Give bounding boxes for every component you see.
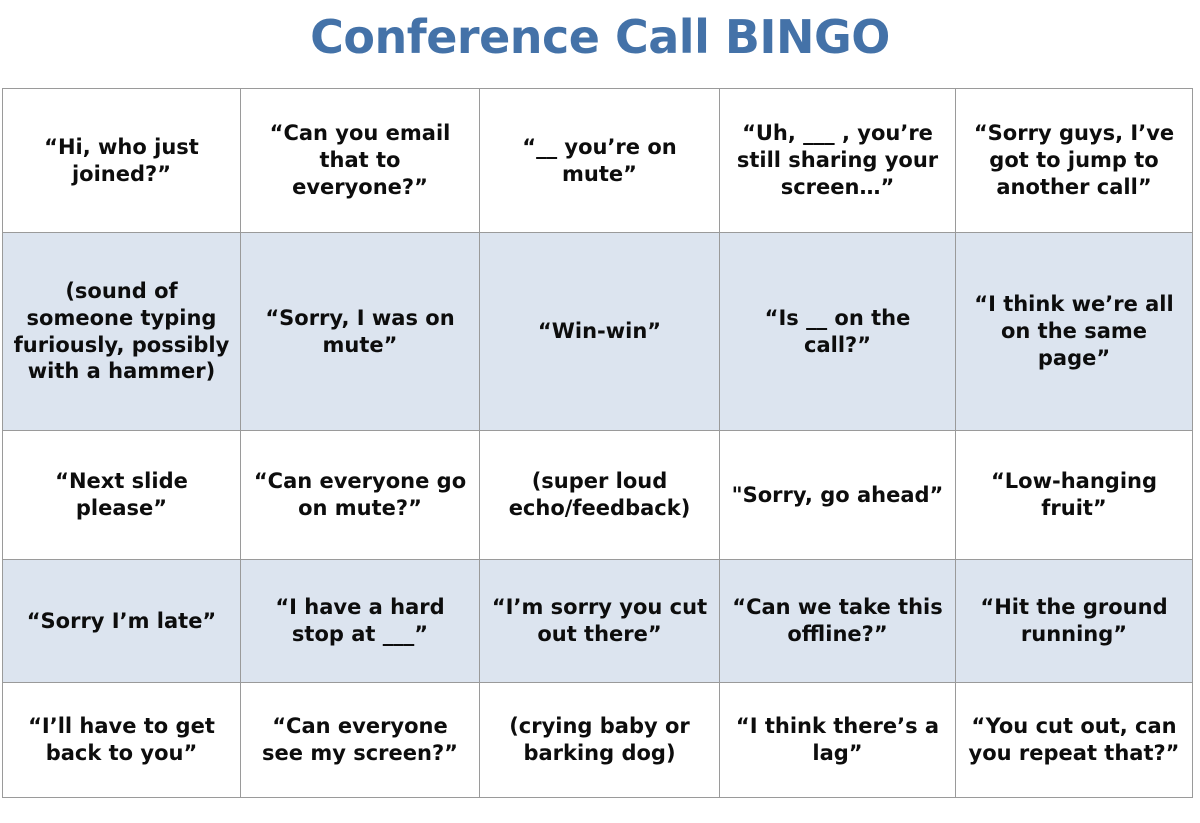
bingo-cell-r5c4[interactable]: “I think there’s a lag” [720,683,956,798]
bingo-row-4: “Sorry I’m late” “I have a hard stop at … [3,560,1193,683]
bingo-cell-r5c2[interactable]: “Can everyone see my screen?” [241,683,480,798]
bingo-row-1: “Hi, who just joined?” “Can you email th… [3,89,1193,233]
bingo-cell-r2c2[interactable]: “Sorry, I was on mute” [241,233,480,431]
bingo-cell-r1c2[interactable]: “Can you email that to everyone?” [241,89,480,233]
bingo-cell-r3c1[interactable]: “Next slide please” [3,431,241,560]
bingo-row-5: “I’ll have to get back to you” “Can ever… [3,683,1193,798]
bingo-row-2: (sound of someone typing furiously, poss… [3,233,1193,431]
bingo-cell-r4c1[interactable]: “Sorry I’m late” [3,560,241,683]
bingo-cell-r1c4[interactable]: “Uh, ___ , you’re still sharing your scr… [720,89,956,233]
bingo-cell-r1c1[interactable]: “Hi, who just joined?” [3,89,241,233]
bingo-cell-r3c4[interactable]: "Sorry, go ahead” [720,431,956,560]
page-title: Conference Call BINGO [0,8,1200,66]
bingo-cell-r3c3[interactable]: (super loud echo/feedback) [480,431,720,560]
bingo-cell-r2c5[interactable]: “I think we’re all on the same page” [956,233,1193,431]
bingo-page: Conference Call BINGO “Hi, who just join… [0,0,1200,823]
bingo-cell-r2c4[interactable]: “Is __ on the call?” [720,233,956,431]
bingo-cell-r4c5[interactable]: “Hit the ground running” [956,560,1193,683]
bingo-cell-r2c1[interactable]: (sound of someone typing furiously, poss… [3,233,241,431]
bingo-cell-r4c2[interactable]: “I have a hard stop at ___” [241,560,480,683]
bingo-cell-r3c5[interactable]: “Low-hanging fruit” [956,431,1193,560]
bingo-cell-r5c1[interactable]: “I’ll have to get back to you” [3,683,241,798]
bingo-cell-r4c3[interactable]: “I’m sorry you cut out there” [480,560,720,683]
bingo-row-3: “Next slide please” “Can everyone go on … [3,431,1193,560]
bingo-cell-r5c3[interactable]: (crying baby or barking dog) [480,683,720,798]
bingo-cell-r3c2[interactable]: “Can everyone go on mute?” [241,431,480,560]
bingo-cell-r2c3[interactable]: “Win-win” [480,233,720,431]
bingo-card-grid: “Hi, who just joined?” “Can you email th… [2,88,1193,798]
bingo-cell-r1c5[interactable]: “Sorry guys, I’ve got to jump to another… [956,89,1193,233]
bingo-cell-r1c3[interactable]: “__ you’re on mute” [480,89,720,233]
bingo-cell-r5c5[interactable]: “You cut out, can you repeat that?” [956,683,1193,798]
bingo-cell-r4c4[interactable]: “Can we take this offline?” [720,560,956,683]
